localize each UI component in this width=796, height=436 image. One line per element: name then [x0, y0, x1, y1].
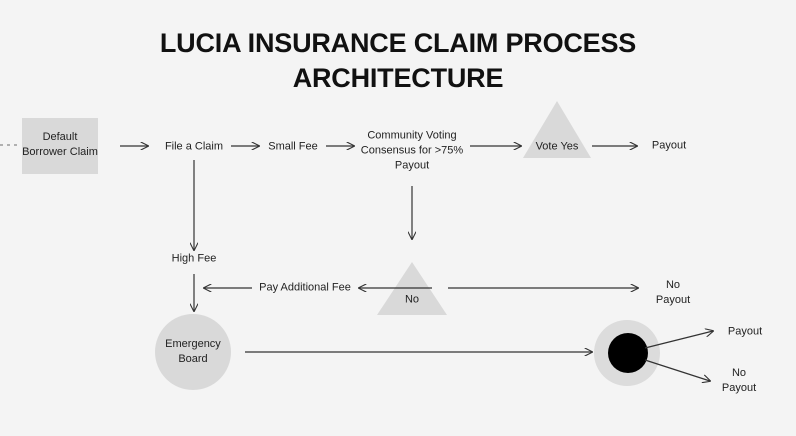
node-emergency-board-shape: [155, 314, 231, 390]
node-final-inner-shape: [608, 333, 648, 373]
flowchart-svg: [0, 0, 796, 436]
node-default-borrower-claim-shape: [22, 118, 98, 174]
node-vote-yes-shape: [523, 101, 591, 158]
diagram-canvas: LUCIA INSURANCE CLAIM PROCESS ARCHITECTU…: [0, 0, 796, 436]
